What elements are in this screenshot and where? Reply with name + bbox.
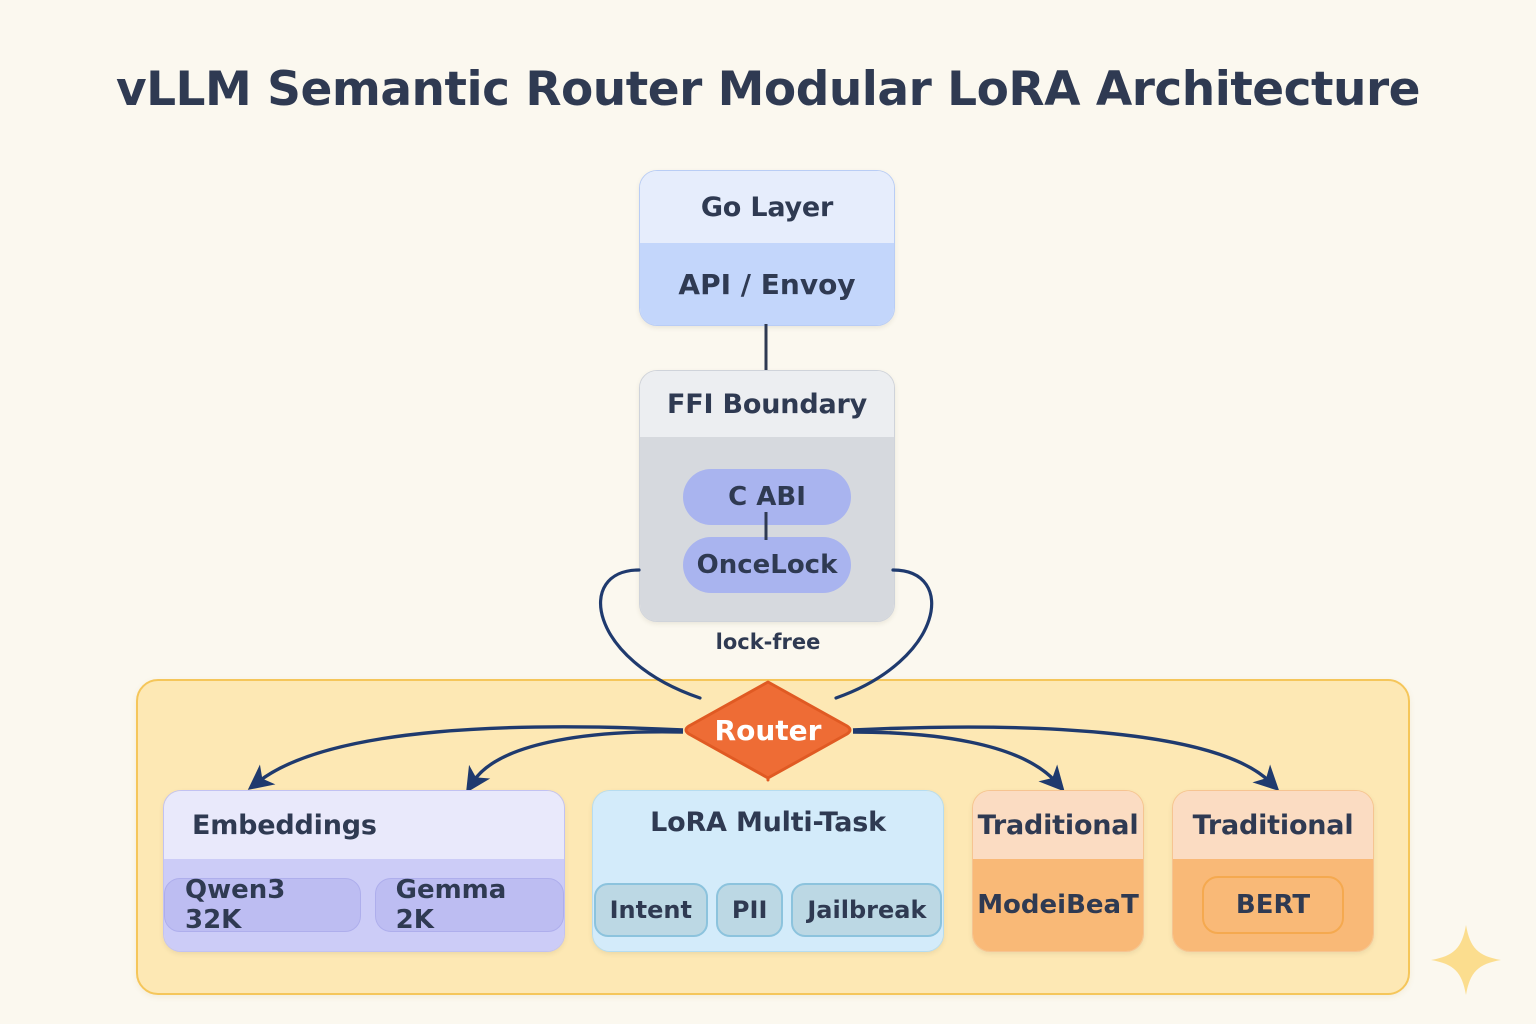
go-layer-header: Go Layer [640,171,894,243]
traditional-modelbeat-card[interactable]: Traditional ModeiBeaT [972,790,1144,952]
page-title: vLLM Semantic Router Modular LoRA Archit… [0,62,1536,117]
go-layer-card[interactable]: Go Layer API / Envoy [639,170,895,326]
lora-pill-jailbreak[interactable]: Jailbreak [791,883,942,937]
traditional-1-header: Traditional [973,791,1143,859]
go-layer-body: API / Envoy [640,243,894,325]
lora-pill-intent[interactable]: Intent [594,883,708,937]
sparkle-icon [1431,925,1501,995]
ffi-pill-oncelock[interactable]: OnceLock [683,537,851,593]
lora-pill-pii[interactable]: PII [716,883,783,937]
embeddings-pill-qwen3[interactable]: Qwen3 32K [164,878,361,932]
embeddings-pill-gemma[interactable]: Gemma 2K [375,878,564,932]
traditional-2-body: BERT [1173,859,1373,951]
lora-multitask-body: Intent PII Jailbreak [593,853,943,951]
traditional-pill-bert[interactable]: BERT [1202,876,1344,934]
traditional-bert-card[interactable]: Traditional BERT [1172,790,1374,952]
diagram-canvas: vLLM Semantic Router Modular LoRA Archit… [0,0,1536,1024]
ffi-boundary-body: C ABI OnceLock [640,437,894,621]
router-node[interactable]: Router [683,678,853,782]
ffi-boundary-card[interactable]: FFI Boundary C ABI OnceLock [639,370,895,622]
traditional-1-body: ModeiBeaT [973,859,1143,951]
traditional-2-header: Traditional [1173,791,1373,859]
ffi-pill-c-abi[interactable]: C ABI [683,469,851,525]
router-diamond-shape [683,678,853,782]
embeddings-body: Qwen3 32K Gemma 2K [164,859,564,951]
ffi-boundary-header: FFI Boundary [640,371,894,437]
lock-free-edge-label: lock-free [683,630,853,654]
lora-multitask-header: LoRA Multi-Task [593,791,943,853]
embeddings-header: Embeddings [164,791,564,859]
lora-multitask-card[interactable]: LoRA Multi-Task Intent PII Jailbreak [592,790,944,952]
embeddings-card[interactable]: Embeddings Qwen3 32K Gemma 2K [163,790,565,952]
